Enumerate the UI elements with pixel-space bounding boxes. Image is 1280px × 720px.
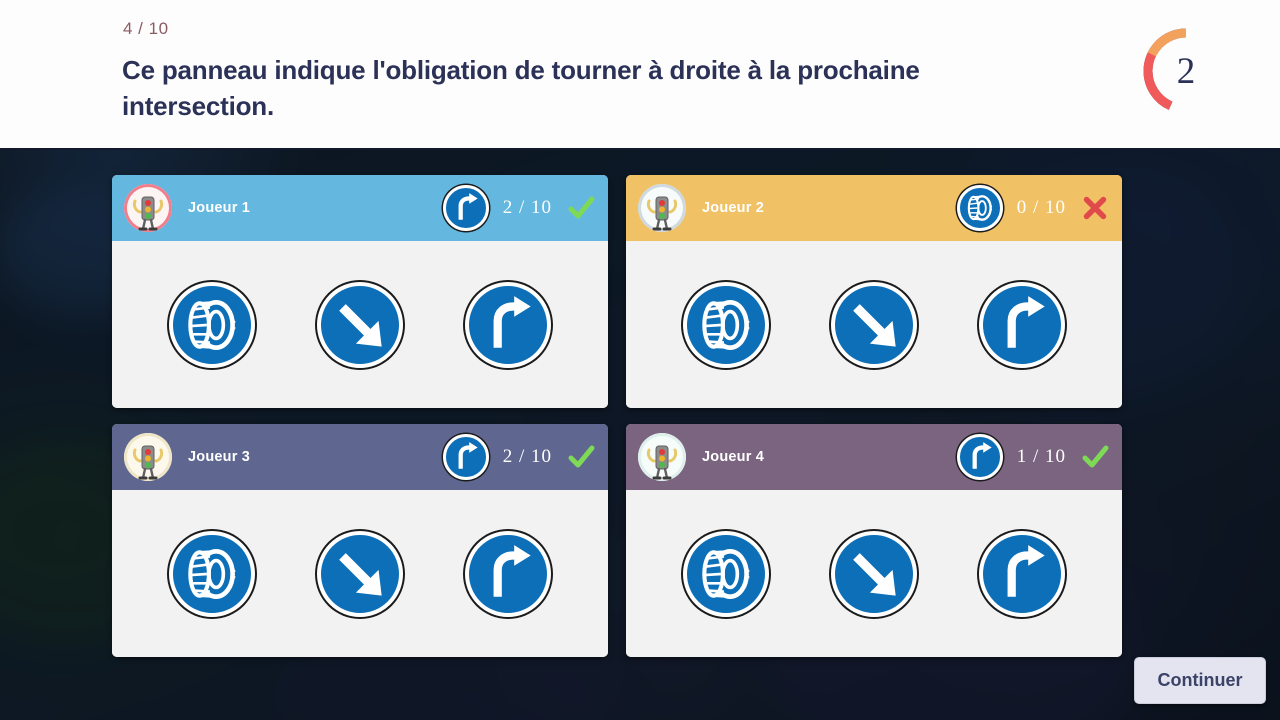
avatar <box>124 433 172 481</box>
option-row <box>112 241 608 408</box>
diagonal-down-right-arrow-sign-icon[interactable] <box>831 531 917 617</box>
snow-chains-sign-icon[interactable] <box>683 531 769 617</box>
snow-chains-sign-icon[interactable] <box>169 531 255 617</box>
cross-icon <box>1080 193 1110 223</box>
snow-chains-tyre-glyph <box>179 541 245 607</box>
continue-button[interactable]: Continuer <box>1134 657 1266 704</box>
player-name: Joueur 2 <box>702 200 957 216</box>
turn-right-sign-icon[interactable] <box>979 531 1065 617</box>
avatar <box>638 433 686 481</box>
diagonal-down-right-arrow-glyph <box>327 541 393 607</box>
player-card-header: Joueur 4 1 / 10 <box>626 424 1122 490</box>
option-row <box>626 241 1122 408</box>
check-icon <box>566 193 596 223</box>
traffic-light-character-icon <box>638 184 686 232</box>
turn-right-arrow-glyph <box>963 440 997 474</box>
player-card-header: Joueur 1 2 / 10 <box>112 175 608 241</box>
player-score: 0 / 10 <box>1017 197 1066 219</box>
snow-chains-tyre-glyph <box>693 541 759 607</box>
turn-right-arrow-glyph <box>989 292 1055 358</box>
snow-chains-sign-icon[interactable] <box>169 282 255 368</box>
avatar <box>124 184 172 232</box>
question-progress-counter: 4 / 10 <box>123 19 169 39</box>
check-icon <box>1080 442 1110 472</box>
player-card[interactable]: Joueur 1 2 / 10 <box>112 175 608 408</box>
diagonal-down-right-arrow-glyph <box>841 541 907 607</box>
diagonal-down-right-arrow-glyph <box>841 292 907 358</box>
diagonal-down-right-arrow-glyph <box>327 292 393 358</box>
turn-right-sign-icon <box>957 434 1003 480</box>
traffic-light-character-icon <box>638 433 686 481</box>
player-name: Joueur 1 <box>188 200 443 216</box>
game-screen: 4 / 10 Ce panneau indique l'obligation d… <box>0 0 1280 720</box>
player-score: 2 / 10 <box>503 446 552 468</box>
snow-chains-sign-icon[interactable] <box>683 282 769 368</box>
turn-right-arrow-glyph <box>475 292 541 358</box>
turn-right-sign-icon <box>443 434 489 480</box>
timer-seconds-value: 2 <box>1139 24 1233 118</box>
turn-right-sign-icon[interactable] <box>979 282 1065 368</box>
turn-right-arrow-glyph <box>449 191 483 225</box>
player-score: 1 / 10 <box>1017 446 1066 468</box>
player-card-header: Joueur 2 0 / 10 <box>626 175 1122 241</box>
diagonal-down-right-arrow-sign-icon[interactable] <box>831 282 917 368</box>
question-text: Ce panneau indique l'obligation de tourn… <box>122 52 1022 124</box>
player-name: Joueur 3 <box>188 449 443 465</box>
diagonal-down-right-arrow-sign-icon[interactable] <box>317 531 403 617</box>
snow-chains-sign-icon <box>957 185 1003 231</box>
turn-right-arrow-glyph <box>449 440 483 474</box>
snow-chains-tyre-glyph <box>693 292 759 358</box>
snow-chains-tyre-glyph <box>963 191 997 225</box>
turn-right-sign-icon <box>443 185 489 231</box>
player-card[interactable]: Joueur 3 2 / 10 <box>112 424 608 657</box>
turn-right-arrow-glyph <box>989 541 1055 607</box>
avatar <box>638 184 686 232</box>
player-score: 2 / 10 <box>503 197 552 219</box>
player-card[interactable]: Joueur 4 1 / 10 <box>626 424 1122 657</box>
traffic-light-character-icon <box>124 433 172 481</box>
snow-chains-tyre-glyph <box>179 292 245 358</box>
traffic-light-character-icon <box>124 184 172 232</box>
countdown-timer: 2 <box>1139 24 1233 118</box>
option-row <box>112 490 608 657</box>
turn-right-sign-icon[interactable] <box>465 531 551 617</box>
player-name: Joueur 4 <box>702 449 957 465</box>
player-card[interactable]: Joueur 2 0 / 10 <box>626 175 1122 408</box>
turn-right-arrow-glyph <box>475 541 541 607</box>
question-header-panel: 4 / 10 Ce panneau indique l'obligation d… <box>0 0 1280 150</box>
check-icon <box>566 442 596 472</box>
diagonal-down-right-arrow-sign-icon[interactable] <box>317 282 403 368</box>
turn-right-sign-icon[interactable] <box>465 282 551 368</box>
player-card-header: Joueur 3 2 / 10 <box>112 424 608 490</box>
option-row <box>626 490 1122 657</box>
